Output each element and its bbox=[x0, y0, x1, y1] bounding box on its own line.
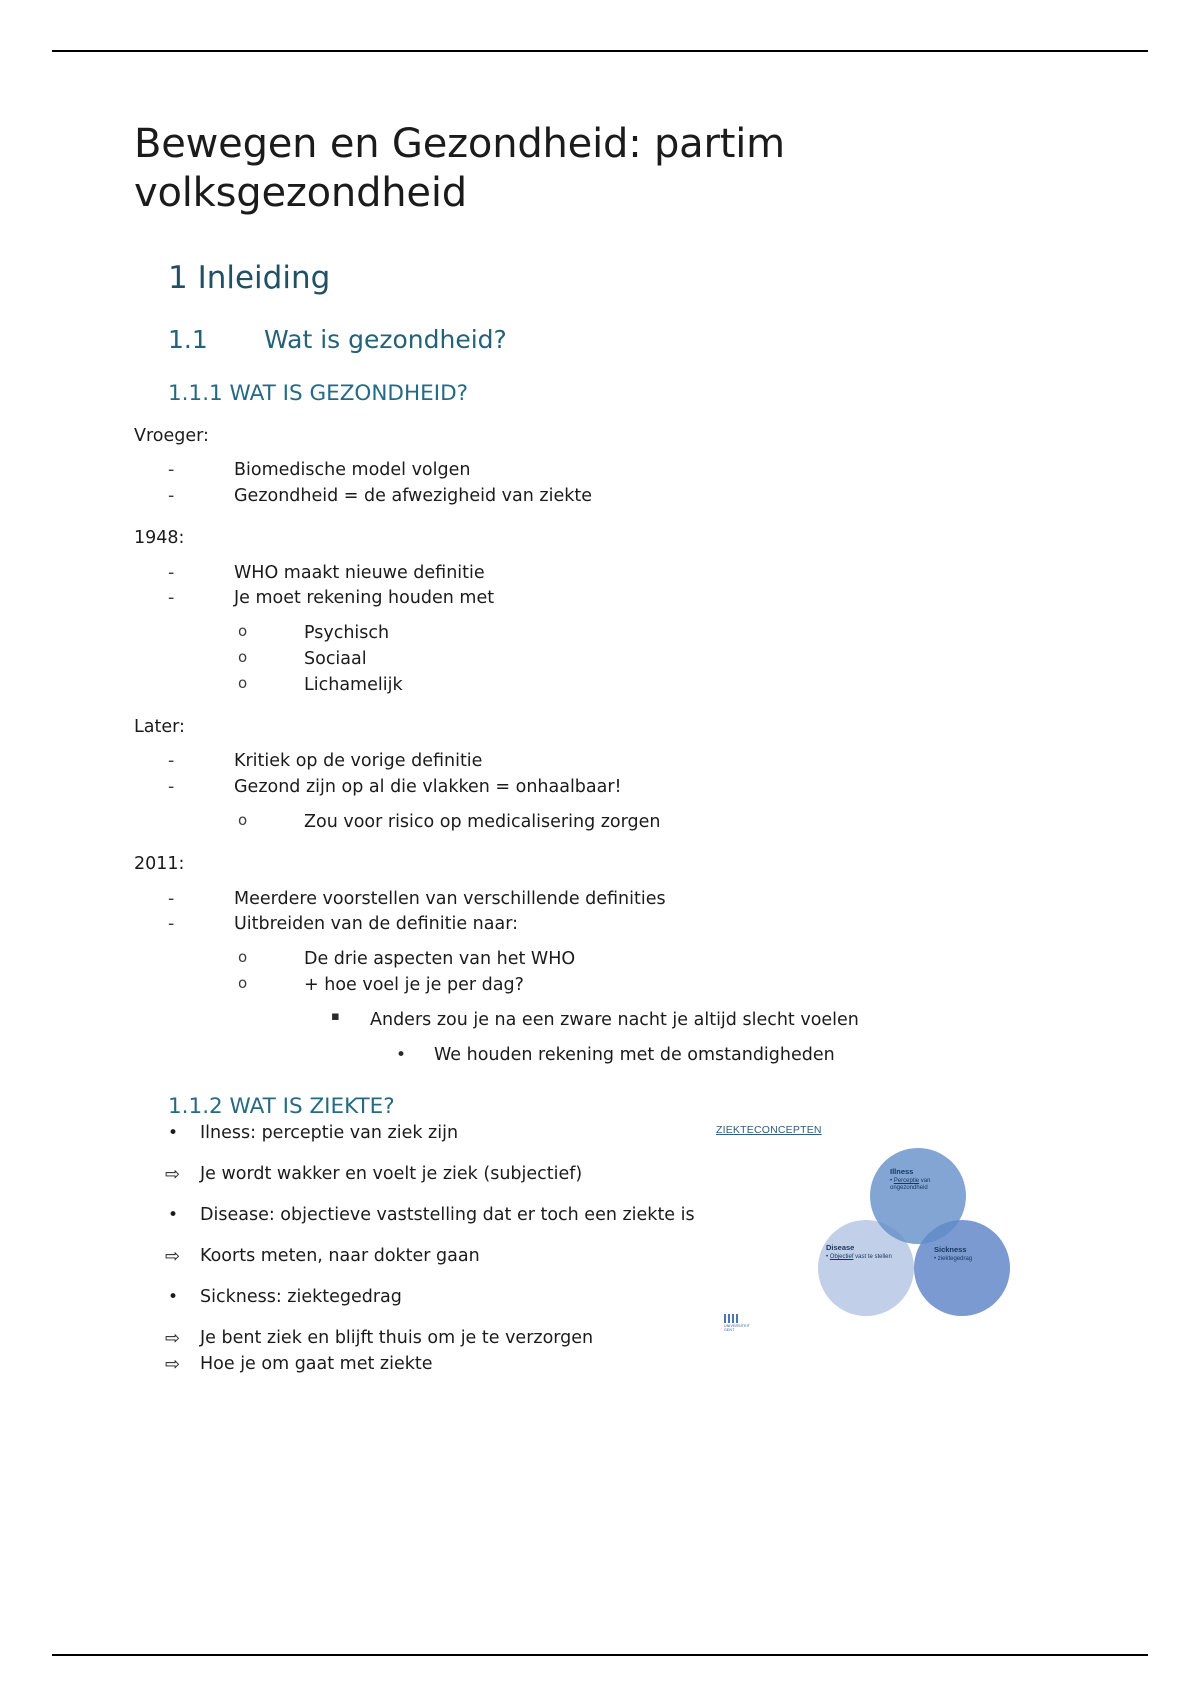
sublist-later: oZou voor risico op medicalisering zorge… bbox=[134, 810, 1064, 835]
list-item-label: Ilness: perceptie van ziek zijn bbox=[200, 1123, 458, 1143]
list-item-label: Koorts meten, naar dokter gaan bbox=[200, 1246, 480, 1266]
list-item: ▪Anders zou je na een zware nacht je alt… bbox=[134, 1008, 1064, 1033]
list-item: ⇨Hoe je om gaat met ziekte bbox=[134, 1352, 760, 1377]
ziekteconcepten-figure: ZIEKTECONCEPTEN Illness • Perceptie van … bbox=[706, 1118, 1046, 1368]
round-bullet-icon: • bbox=[396, 1043, 406, 1067]
list-item: o+ hoe voel je je per dag? bbox=[134, 973, 1064, 998]
list-vroeger: -Biomedische model volgen -Gezondheid = … bbox=[134, 458, 1064, 509]
sublist-1948: oPsychisch oSociaal oLichamelijk bbox=[134, 621, 1064, 698]
round-bullet-icon: • bbox=[168, 1121, 178, 1145]
list-later: -Kritiek op de vorige definitie -Gezond … bbox=[134, 749, 1064, 800]
list-item-label: Hoe je om gaat met ziekte bbox=[200, 1354, 433, 1374]
footer-rule bbox=[52, 1654, 1148, 1656]
list-item-label: Zou voor risico op medicalisering zorgen bbox=[304, 812, 661, 832]
round-bullet-icon: • bbox=[168, 1203, 178, 1227]
lead-1948: 1948: bbox=[134, 527, 1064, 551]
list-item: ⇨Koorts meten, naar dokter gaan bbox=[134, 1244, 760, 1269]
list-item-label: Je moet rekening houden met bbox=[234, 588, 494, 608]
list-item: ⇨Je bent ziek en blijft thuis om je te v… bbox=[134, 1326, 760, 1351]
page-title: Bewegen en Gezondheid: partim volksgezon… bbox=[134, 120, 894, 218]
list-item-label: Sickness: ziektegedrag bbox=[200, 1287, 402, 1307]
list-item: oPsychisch bbox=[134, 621, 1064, 646]
heading-1-1-1: 1.1.1 WAT IS GEZONDHEID? bbox=[168, 381, 1064, 407]
list-item-label: Je bent ziek en blijft thuis om je te ve… bbox=[200, 1328, 593, 1348]
dash-bullet-icon: - bbox=[168, 749, 174, 774]
arrow-bullet-icon: ⇨ bbox=[165, 1162, 180, 1188]
list-item-label: Psychisch bbox=[304, 623, 389, 643]
list-item-label: Gezond zijn op al die vlakken = onhaalba… bbox=[234, 777, 622, 797]
circle-bullet-icon: o bbox=[238, 647, 247, 668]
venn-label-illness: Illness • Perceptie van ongezondheid bbox=[890, 1168, 962, 1192]
dash-bullet-icon: - bbox=[168, 458, 174, 483]
list-item: oDe drie aspecten van het WHO bbox=[134, 947, 1064, 972]
list-item: -Je moet rekening houden met bbox=[134, 586, 1064, 611]
circle-bullet-icon: o bbox=[238, 947, 247, 968]
heading-1-1-label: Wat is gezondheid? bbox=[264, 325, 507, 354]
circle-bullet-icon: o bbox=[238, 810, 247, 831]
list-item-label: We houden rekening met de omstandigheden bbox=[434, 1045, 835, 1065]
list-item-label: Kritiek op de vorige definitie bbox=[234, 751, 482, 771]
dash-bullet-icon: - bbox=[168, 561, 174, 586]
heading-1-inleiding: 1 Inleiding bbox=[168, 260, 1064, 297]
list-item-label: + hoe voel je je per dag? bbox=[304, 975, 524, 995]
list-item: •Sickness: ziektegedrag bbox=[134, 1285, 760, 1310]
arrow-bullet-icon: ⇨ bbox=[165, 1352, 180, 1378]
list-item: ⇨Je wordt wakker en voelt je ziek (subje… bbox=[134, 1162, 760, 1187]
list-item-label: Anders zou je na een zware nacht je alti… bbox=[370, 1010, 859, 1030]
list-item: -Gezond zijn op al die vlakken = onhaalb… bbox=[134, 775, 1064, 800]
venn-label-disease-sub: • Objectief vast te stellen bbox=[826, 1254, 892, 1261]
header-rule bbox=[52, 50, 1148, 52]
dash-bullet-icon: - bbox=[168, 586, 174, 611]
circle-bullet-icon: o bbox=[238, 621, 247, 642]
list-item-label: Je wordt wakker en voelt je ziek (subjec… bbox=[200, 1164, 582, 1184]
dash-bullet-icon: - bbox=[168, 887, 174, 912]
list-1948: -WHO maakt nieuwe definitie -Je moet rek… bbox=[134, 561, 1064, 612]
list-item: oZou voor risico op medicalisering zorge… bbox=[134, 810, 1064, 835]
lead-later: Later: bbox=[134, 716, 1064, 740]
lead-vroeger: Vroeger: bbox=[134, 425, 1064, 449]
list-item: -WHO maakt nieuwe definitie bbox=[134, 561, 1064, 586]
list-item: -Meerdere voorstellen van verschillende … bbox=[134, 887, 1064, 912]
list-item: •We houden rekening met de omstandighede… bbox=[134, 1043, 1064, 1068]
circle-bullet-icon: o bbox=[238, 973, 247, 994]
list-item: -Biomedische model volgen bbox=[134, 458, 1064, 483]
list-item-label: Sociaal bbox=[304, 649, 367, 669]
list-item: -Gezondheid = de afwezigheid van ziekte bbox=[134, 484, 1064, 509]
logo-text: UNIVERSITEIT GENT bbox=[724, 1324, 750, 1333]
list-2011: -Meerdere voorstellen van verschillende … bbox=[134, 887, 1064, 938]
venn-label-disease-title: Disease bbox=[826, 1244, 892, 1253]
venn-label-illness-sub: • Perceptie van ongezondheid bbox=[890, 1178, 962, 1192]
heading-1-1-2: 1.1.2 WAT IS ZIEKTE? bbox=[168, 1094, 1064, 1120]
figure-title: ZIEKTECONCEPTEN bbox=[716, 1124, 822, 1136]
round-bullet-icon: • bbox=[168, 1285, 178, 1309]
lead-2011: 2011: bbox=[134, 853, 1064, 877]
venn-label-sickness: Sickness • ziektegedrag bbox=[934, 1246, 972, 1263]
dash-bullet-icon: - bbox=[168, 775, 174, 800]
list-item-label: Meerdere voorstellen van verschillende d… bbox=[234, 889, 666, 909]
university-logo-icon: UNIVERSITEIT GENT bbox=[724, 1314, 750, 1333]
venn-label-sickness-sub-rest: ziektegedrag bbox=[938, 1256, 972, 1262]
list-item: oLichamelijk bbox=[134, 673, 1064, 698]
list-item-label: WHO maakt nieuwe definitie bbox=[234, 563, 485, 583]
venn-label-illness-title: Illness bbox=[890, 1168, 962, 1177]
heading-1-1-number: 1.1 bbox=[168, 325, 264, 355]
logo-bars-icon bbox=[724, 1314, 738, 1323]
venn-label-sickness-title: Sickness bbox=[934, 1246, 972, 1255]
venn-label-sickness-sub: • ziektegedrag bbox=[934, 1256, 972, 1263]
list-item: -Kritiek op de vorige definitie bbox=[134, 749, 1064, 774]
list-item: •Ilness: perceptie van ziek zijn bbox=[134, 1121, 760, 1146]
square-bullet-icon: ▪ bbox=[331, 1008, 340, 1026]
venn-label-illness-sub-underlined: Perceptie bbox=[894, 1178, 919, 1184]
sublist-2011-level3: ▪Anders zou je na een zware nacht je alt… bbox=[134, 1008, 1064, 1033]
dash-bullet-icon: - bbox=[168, 912, 174, 937]
heading-1-1: 1.1Wat is gezondheid? bbox=[168, 325, 1064, 355]
document-page: Bewegen en Gezondheid: partim volksgezon… bbox=[0, 0, 1200, 1700]
list-item-label: De drie aspecten van het WHO bbox=[304, 949, 575, 969]
dash-bullet-icon: - bbox=[168, 484, 174, 509]
sublist-2011-level4: •We houden rekening met de omstandighede… bbox=[134, 1043, 1064, 1068]
list-item: •Disease: objectieve vaststelling dat er… bbox=[134, 1203, 760, 1228]
list-item-label: Lichamelijk bbox=[304, 675, 403, 695]
list-item-label: Disease: objectieve vaststelling dat er … bbox=[200, 1205, 695, 1225]
venn-label-disease: Disease • Objectief vast te stellen bbox=[826, 1244, 892, 1261]
arrow-bullet-icon: ⇨ bbox=[165, 1326, 180, 1352]
list-item-label: Gezondheid = de afwezigheid van ziekte bbox=[234, 486, 592, 506]
venn-circle-illness bbox=[870, 1148, 966, 1244]
list-item: oSociaal bbox=[134, 647, 1064, 672]
circle-bullet-icon: o bbox=[238, 673, 247, 694]
list-item-label: Uitbreiden van de definitie naar: bbox=[234, 914, 518, 934]
venn-diagram: Illness • Perceptie van ongezondheid Dis… bbox=[818, 1148, 1008, 1338]
venn-label-disease-sub-underlined: Objectief bbox=[830, 1254, 854, 1260]
list-item-label: Biomedische model volgen bbox=[234, 460, 470, 480]
arrow-bullet-icon: ⇨ bbox=[165, 1244, 180, 1270]
venn-label-disease-sub-rest: vast te stellen bbox=[853, 1254, 891, 1260]
sublist-2011: oDe drie aspecten van het WHO o+ hoe voe… bbox=[134, 947, 1064, 998]
list-item: -Uitbreiden van de definitie naar: bbox=[134, 912, 1064, 937]
